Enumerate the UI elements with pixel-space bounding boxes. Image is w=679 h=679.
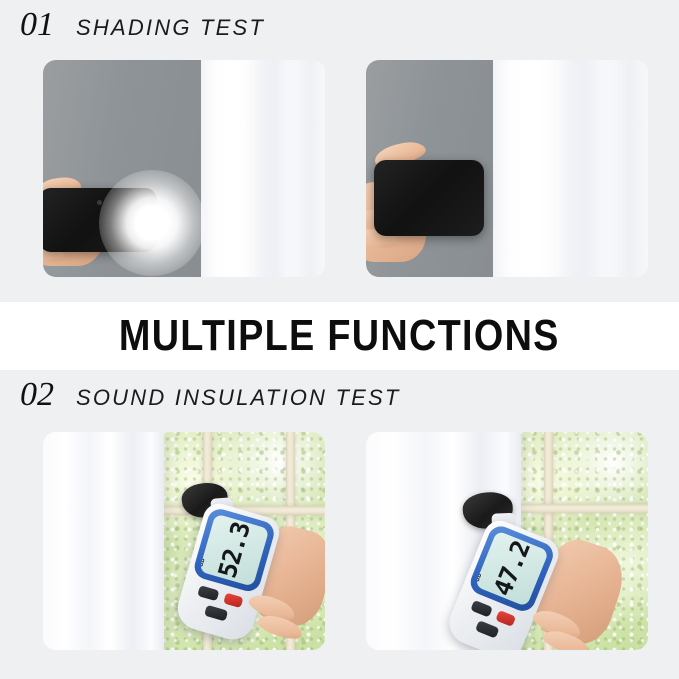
window-mullion-horizontal <box>521 504 648 513</box>
meter-display-bezel: 52.3 dB <box>192 506 277 594</box>
panel-3-scene: 52.3 dB <box>43 432 325 650</box>
section-02-title: SOUND INSULATION TEST <box>76 387 401 409</box>
panel-2-scene <box>366 60 648 277</box>
shading-test-photo-flashlight-blocked <box>366 60 648 277</box>
sound-test-photo-curtain-closed: 47.2 dB <box>366 432 648 650</box>
meter-reading-unit: dB <box>199 557 207 567</box>
panel-4-scene: 47.2 dB <box>366 432 648 650</box>
meter-button-hold[interactable] <box>204 605 228 622</box>
section-02-heading: 02 SOUND INSULATION TEST <box>20 378 401 412</box>
white-curtain-area <box>493 60 648 277</box>
meter-lcd-screen: 47.2 dB <box>475 530 549 607</box>
meter-reading-unit: dB <box>475 572 484 583</box>
meter-button-max[interactable] <box>197 585 219 601</box>
section-02-number: 02 <box>20 378 54 412</box>
meter-power-button[interactable] <box>223 593 243 609</box>
meter-reading-value: 47.2 <box>488 537 536 600</box>
curtain-panel <box>43 432 164 650</box>
shading-test-photo-flashlight-on <box>43 60 325 277</box>
meter-button-hold[interactable] <box>475 620 500 638</box>
section-01-number: 01 <box>20 8 54 42</box>
panel-1-scene <box>43 60 325 277</box>
smartphone <box>374 160 484 236</box>
section-01-heading: 01 SHADING TEST <box>20 8 265 42</box>
meter-lcd-screen: 52.3 dB <box>199 514 269 587</box>
white-curtain-area <box>201 60 325 277</box>
section-01-title: SHADING TEST <box>76 17 265 39</box>
meter-button-max[interactable] <box>470 600 493 618</box>
product-feature-board: 01 SHADING TEST <box>0 0 679 679</box>
meter-reading-value: 52.3 <box>213 519 256 581</box>
banner-title: MULTIPLE FUNCTIONS <box>119 311 560 361</box>
sound-test-photo-window-open: 52.3 dB <box>43 432 325 650</box>
banner-multiple-functions: MULTIPLE FUNCTIONS <box>0 302 679 370</box>
flashlight-beam <box>99 170 205 276</box>
meter-power-button[interactable] <box>495 610 516 627</box>
